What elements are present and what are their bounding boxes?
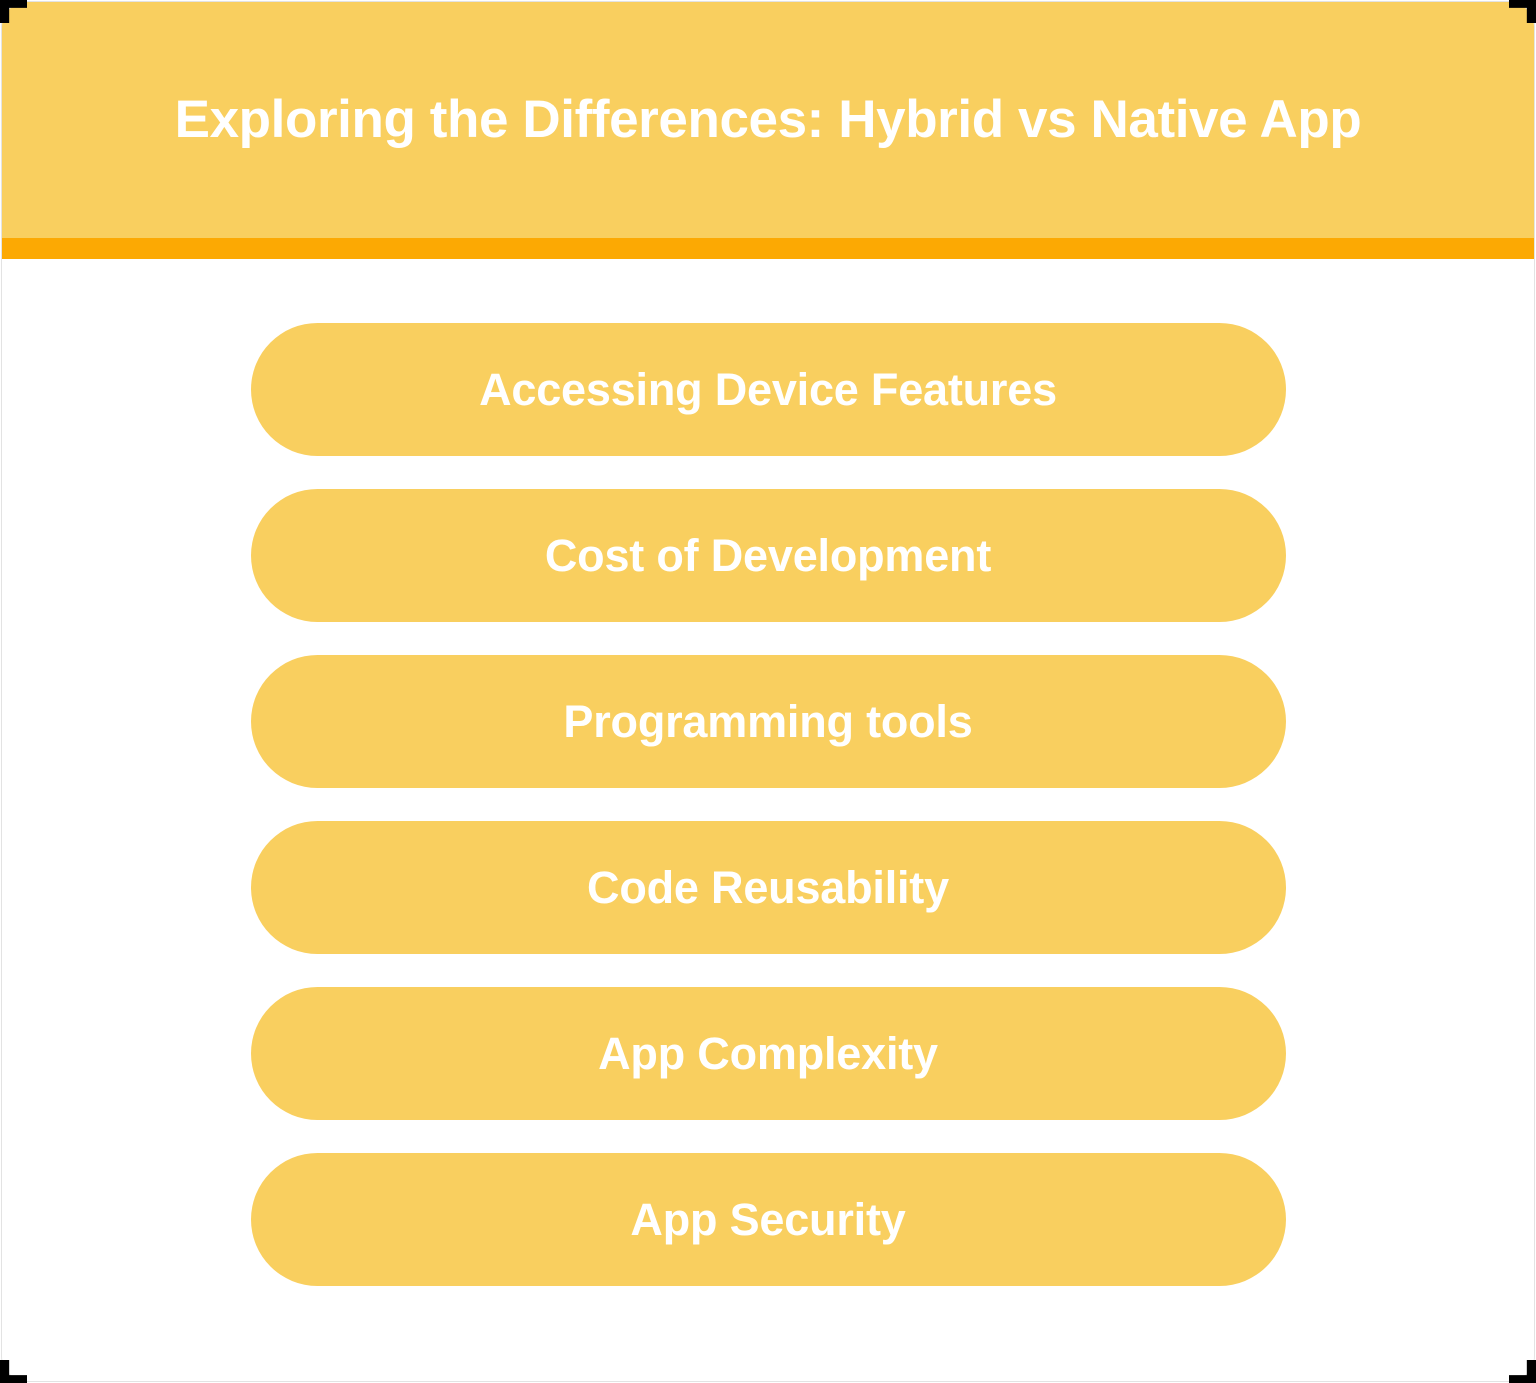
list-item[interactable]: Cost of Development bbox=[251, 489, 1286, 622]
comparison-topic-list: Accessing Device Features Cost of Develo… bbox=[2, 259, 1534, 1371]
list-item[interactable]: Code Reusability bbox=[251, 821, 1286, 954]
list-item-label: Cost of Development bbox=[545, 531, 991, 581]
list-item[interactable]: Accessing Device Features bbox=[251, 323, 1286, 456]
list-item[interactable]: App Security bbox=[251, 1153, 1286, 1286]
list-item-label: App Complexity bbox=[598, 1029, 938, 1079]
list-item-label: App Security bbox=[630, 1195, 905, 1245]
list-item[interactable]: Programming tools bbox=[251, 655, 1286, 788]
accent-stripe-divider bbox=[2, 238, 1534, 259]
page-title: Exploring the Differences: Hybrid vs Nat… bbox=[175, 90, 1362, 151]
card-header: Exploring the Differences: Hybrid vs Nat… bbox=[2, 2, 1534, 238]
list-item-label: Code Reusability bbox=[587, 863, 949, 913]
list-item-label: Programming tools bbox=[563, 697, 972, 747]
list-item[interactable]: App Complexity bbox=[251, 987, 1286, 1120]
list-item-label: Accessing Device Features bbox=[479, 365, 1057, 415]
infographic-card: Exploring the Differences: Hybrid vs Nat… bbox=[1, 1, 1535, 1382]
page-frame: Exploring the Differences: Hybrid vs Nat… bbox=[0, 0, 1536, 1383]
